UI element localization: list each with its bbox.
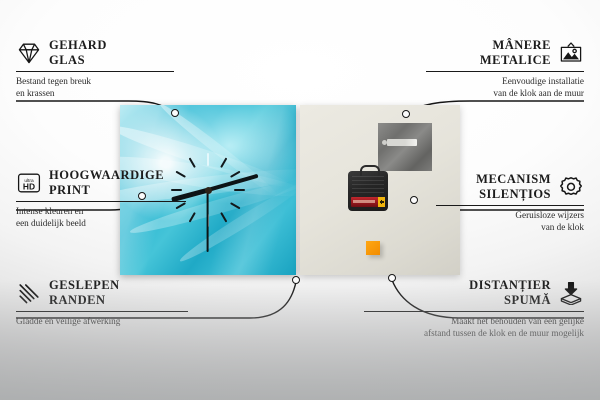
callout-dot-handles[interactable] xyxy=(402,110,410,118)
feature-title-line1: MECANISM xyxy=(476,172,551,186)
feature-divider xyxy=(16,311,188,312)
clock-mechanism-box xyxy=(348,171,388,211)
feature-polished-edges: GESLEPEN RANDEN Gladde en veilige afwerk… xyxy=(16,278,196,327)
feature-title-line1: DISTANȚIER xyxy=(469,278,551,292)
feature-subtitle: Eenvoudige installatie van de klok aan d… xyxy=(418,75,584,100)
feature-foam-spacer: DISTANȚIER SPUMĂ Maakt het behouden van … xyxy=(356,278,584,340)
feature-title-line1: GEHARD xyxy=(49,38,107,52)
beveled-edges-icon xyxy=(16,281,42,305)
feature-title-line2: SILENȚIOS xyxy=(479,187,551,201)
feature-title-line2: RANDEN xyxy=(49,293,105,307)
feature-high-quality-print: ultra HD HOOGWAARDIGE PRINT Intense kleu… xyxy=(16,168,194,230)
callout-dot-mechanism[interactable] xyxy=(410,196,418,204)
feature-title-line2: GLAS xyxy=(49,53,85,67)
feature-subtitle: Bestand tegen breuk en krassen xyxy=(16,75,186,100)
feature-divider xyxy=(426,71,584,72)
metal-hanger-plate xyxy=(378,123,432,171)
feature-divider xyxy=(436,205,584,206)
feature-title-line1: GESLEPEN xyxy=(49,278,120,292)
ultra-hd-icon: ultra HD xyxy=(16,171,42,195)
feature-subtitle: Maakt het behouden van een gelijke afsta… xyxy=(356,315,584,340)
feature-silent-mechanism: MECANISM SILENȚIOS Geruisloze wijzers va… xyxy=(430,172,584,234)
mechanism-vents xyxy=(352,176,384,193)
feature-metal-handles: MÂNERE METALICE Eenvoudige installatie v… xyxy=(418,38,584,100)
battery xyxy=(351,197,385,207)
feature-title-line2: METALICE xyxy=(480,53,551,67)
feature-divider xyxy=(16,71,174,72)
feature-subtitle: Gladde en veilige afwerking xyxy=(16,315,196,327)
picture-frame-icon xyxy=(558,41,584,65)
product-infographic: GEHARD GLAS Bestand tegen breuk en krass… xyxy=(0,0,600,400)
feature-subtitle: Geruisloze wijzers van de klok xyxy=(430,209,584,234)
feature-title-line2: PRINT xyxy=(49,183,90,197)
clock-center-cap xyxy=(205,187,212,194)
feature-tempered-glass: GEHARD GLAS Bestand tegen breuk en krass… xyxy=(16,38,186,100)
battery-plus-terminal xyxy=(378,197,385,207)
feature-title-line1: MÂNERE xyxy=(492,38,551,52)
diamond-icon xyxy=(16,41,42,65)
gear-icon xyxy=(558,175,584,199)
press-down-arrow-icon xyxy=(558,281,584,305)
clock-second-hand xyxy=(207,190,209,252)
feature-divider xyxy=(364,311,584,312)
feature-title-line2: SPUMĂ xyxy=(504,293,551,307)
callout-dot-edges[interactable] xyxy=(292,276,300,284)
feature-title-line1: HOOGWAARDIGE xyxy=(49,168,164,182)
feature-divider xyxy=(16,201,186,202)
foam-spacer-pad xyxy=(366,241,380,255)
svg-text:HD: HD xyxy=(23,181,35,191)
feature-subtitle: Intense kleuren en een duidelijk beeld xyxy=(16,205,194,230)
mechanism-hanger-loop xyxy=(360,165,380,176)
callout-dot-glass[interactable] xyxy=(171,109,179,117)
